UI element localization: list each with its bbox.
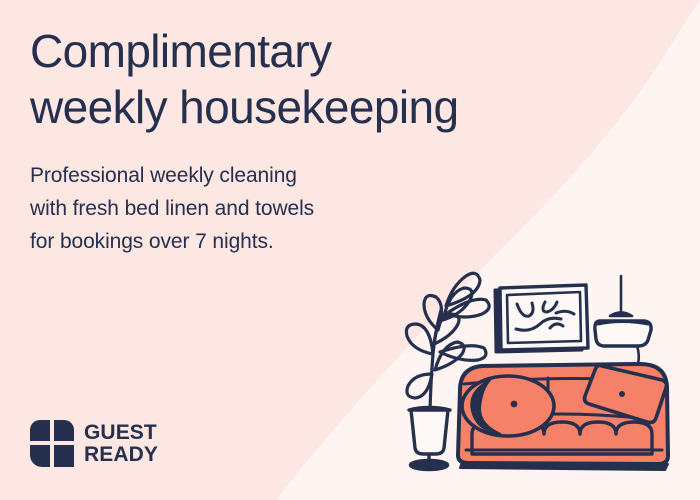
pendant-lamp-icon: [595, 276, 651, 364]
quadrant-square-icon: [30, 420, 74, 467]
brand-logo: GUEST READY: [30, 420, 158, 467]
living-room-illustration: [390, 258, 700, 500]
page-title: Complimentary weekly housekeeping: [30, 24, 610, 135]
promo-card: Complimentary weekly housekeeping Profes…: [0, 0, 700, 500]
framed-picture-icon: [495, 285, 588, 352]
logo-wordmark: GUEST READY: [84, 422, 158, 465]
round-cushion-icon: [462, 376, 554, 436]
subtitle-text: Professional weekly cleaning with fresh …: [30, 160, 450, 258]
